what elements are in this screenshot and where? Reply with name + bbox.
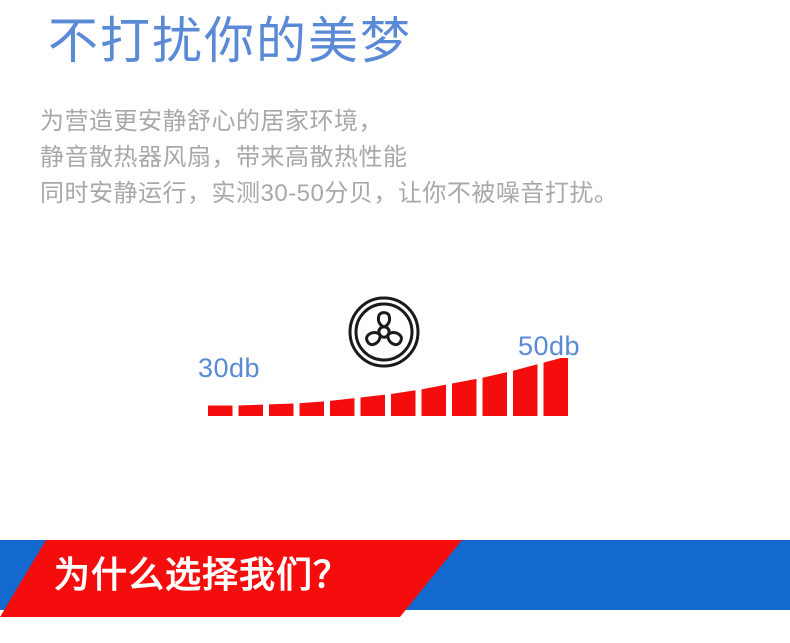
noise-bar [208, 406, 233, 416]
page-title: 不打扰你的美梦 [48, 10, 412, 72]
noise-bar [513, 364, 538, 416]
noise-bar [452, 379, 477, 416]
description-line-1: 为营造更安静舒心的居家环境， [40, 104, 618, 140]
noise-bar [483, 372, 508, 416]
noise-bar [330, 398, 355, 416]
noise-bar [544, 358, 569, 416]
description-line-3: 同时安静运行，实测30-50分贝，让你不被噪音打扰。 [40, 176, 618, 212]
section-banner-title: 为什么选择我们？ [54, 549, 374, 601]
noise-bar [391, 390, 416, 416]
noise-bar [300, 401, 325, 416]
noise-bar [239, 405, 264, 416]
noise-bar-chart [208, 358, 568, 416]
noise-bar [361, 395, 386, 416]
description-block: 为营造更安静舒心的居家环境， 静音散热器风扇，带来高散热性能 同时安静运行，实测… [40, 104, 618, 212]
product-detail-page: 不打扰你的美梦 为营造更安静舒心的居家环境， 静音散热器风扇，带来高散热性能 同… [0, 0, 790, 643]
noise-bar [269, 403, 294, 416]
noise-bar [422, 385, 447, 416]
description-line-2: 静音散热器风扇，带来高散热性能 [40, 140, 618, 176]
